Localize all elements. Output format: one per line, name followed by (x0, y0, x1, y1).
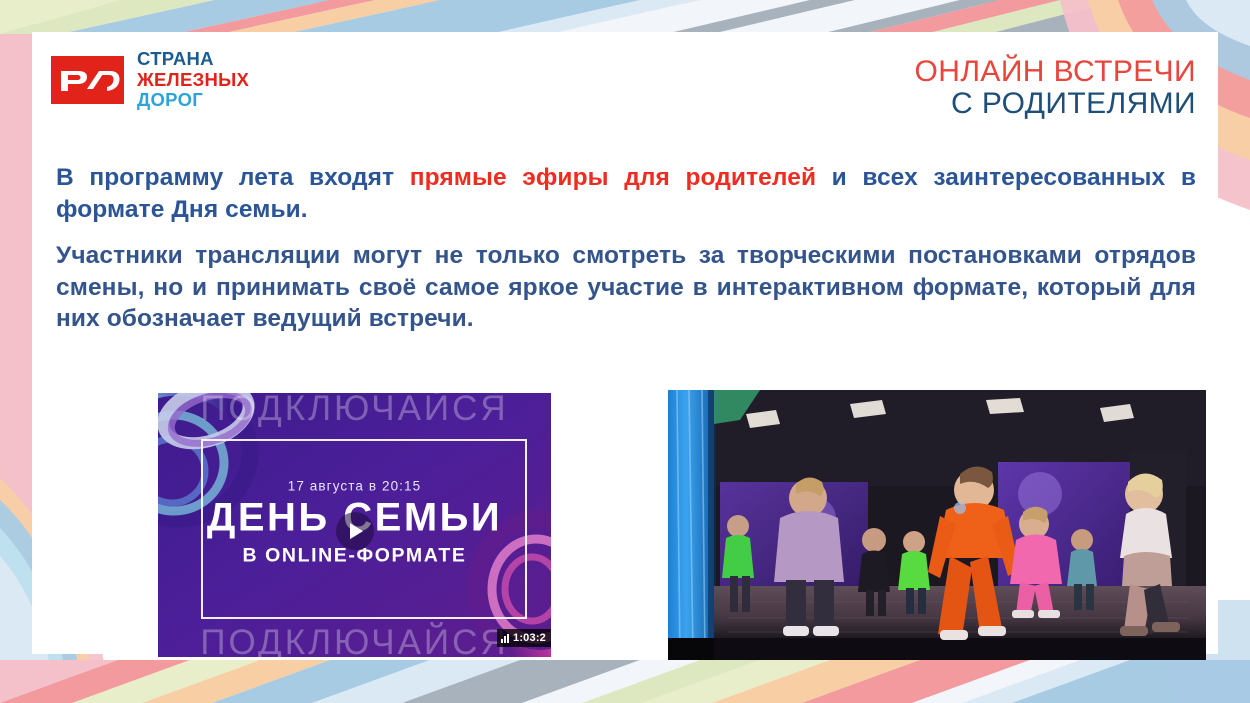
video-date-line: 17 августа в 20:15 (158, 479, 551, 494)
slide-content-card: СТРАНА ЖЕЛЕЗНЫХ ДОРОГ ОНЛАЙН ВСТРЕЧИ С Р… (32, 32, 1218, 654)
slide-body-text: В программу лета входят прямые эфиры для… (56, 162, 1196, 335)
logo-line-zheleznyh: ЖЕЛЕЗНЫХ (137, 70, 249, 91)
rzd-logo-mark-icon (51, 56, 124, 104)
paragraph-1-part-1: В программу лета входят (56, 164, 410, 191)
rzd-logo-wordmark: СТРАНА ЖЕЛЕЗНЫХ ДОРОГ (137, 49, 249, 111)
logo-line-strana: СТРАНА (137, 49, 249, 70)
presentation-slide: СТРАНА ЖЕЛЕЗНЫХ ДОРОГ ОНЛАЙН ВСТРЕЧИ С Р… (0, 0, 1250, 703)
slide-title: ОНЛАЙН ВСТРЕЧИ С РОДИТЕЛЯМИ (915, 56, 1196, 121)
slide-header: СТРАНА ЖЕЛЕЗНЫХ ДОРОГ ОНЛАЙН ВСТРЕЧИ С Р… (32, 32, 1218, 137)
video-duration-badge: 1:03:2 (497, 629, 551, 647)
video-watermark-top: ПОДКЛЮЧАЙСЯ (158, 393, 551, 429)
slide-title-line-1: ОНЛАЙН ВСТРЕЧИ (915, 56, 1196, 88)
video-watermark-bottom: ПОДКЛЮЧАЙСЯ (158, 623, 551, 657)
logo-line-dorog: ДОРОГ (137, 90, 249, 111)
den-semi-video-thumbnail[interactable]: ПОДКЛЮЧАЙСЯ ПОДКЛЮЧАЙСЯ 17 августа в 20:… (158, 393, 551, 657)
rzd-logo: СТРАНА ЖЕЛЕЗНЫХ ДОРОГ (51, 49, 249, 111)
play-icon[interactable] (336, 512, 374, 550)
stage-performance-photo (668, 390, 1206, 660)
paragraph-1-highlight: прямые эфиры для родителей (410, 164, 816, 191)
video-duration-text: 1:03:2 (513, 632, 546, 644)
audio-bars-icon (501, 634, 509, 643)
slide-title-line-2: С РОДИТЕЛЯМИ (915, 88, 1196, 120)
paragraph-1: В программу лета входят прямые эфиры для… (56, 162, 1196, 226)
paragraph-2: Участники трансляции могут не только смо… (56, 240, 1196, 336)
media-row: ПОДКЛЮЧАЙСЯ ПОДКЛЮЧАЙСЯ 17 августа в 20:… (32, 393, 1218, 655)
